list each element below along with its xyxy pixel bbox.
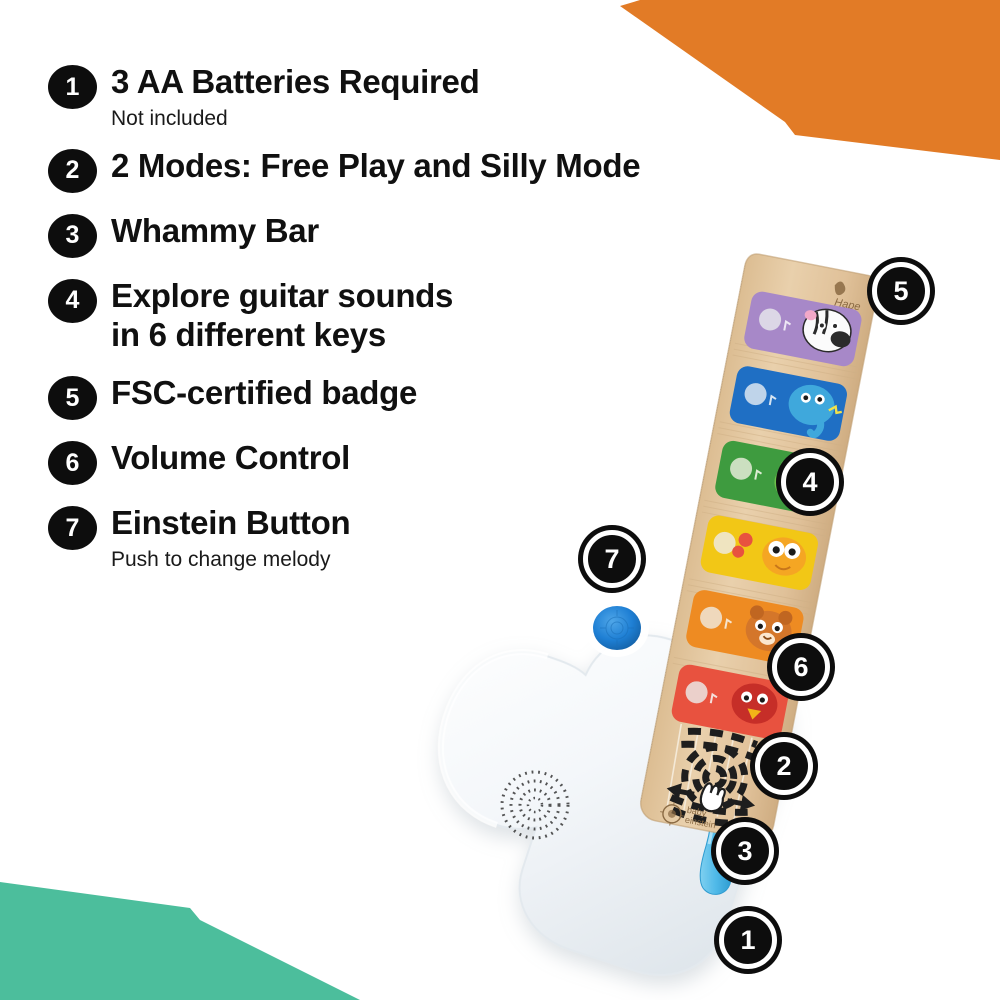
callout-badge-7[interactable]: 7: [583, 530, 641, 588]
zebra-face: [798, 305, 855, 356]
callout-badge-4[interactable]: 4: [781, 453, 839, 511]
hape-logo: Hape: [830, 281, 864, 314]
feature-title-7: Einstein Button: [111, 503, 350, 543]
callout-badge-3[interactable]: 3: [716, 822, 774, 880]
animal-key-zebra[interactable]: [742, 290, 863, 368]
feature-title-6: Volume Control: [111, 438, 350, 478]
feature-number-badge-6: 6: [48, 441, 97, 485]
feature-item-6: 6 Volume Control: [48, 438, 648, 485]
feature-number-badge-7: 7: [48, 506, 97, 550]
feature-subtitle-1: Not included: [111, 106, 479, 132]
infographic-canvas: 1 3 AA Batteries Required Not included 2…: [0, 0, 1000, 1000]
feature-item-3: 3 Whammy Bar: [48, 211, 648, 258]
music-note-icon: [740, 749, 748, 762]
animal-key-lion[interactable]: [699, 514, 820, 592]
feature-title-2: 2 Modes: Free Play and Silly Mode: [111, 146, 640, 186]
animal-key-elephant[interactable]: [728, 364, 849, 442]
feature-number-badge-3: 3: [48, 214, 97, 258]
mode-switch[interactable]: [709, 740, 748, 780]
svg-text:baby: baby: [686, 805, 708, 819]
feature-item-1: 1 3 AA Batteries Required Not included: [48, 62, 648, 132]
elephant-face: [783, 381, 845, 439]
guitar-strings: [665, 724, 752, 820]
feature-number-badge-4: 4: [48, 279, 97, 323]
speaker-grille-icon: [502, 772, 568, 838]
feature-subtitle-7: Push to change melody: [111, 547, 350, 573]
strum-area[interactable]: [662, 726, 767, 830]
baby-einstein-logo: baby einstein: [658, 800, 719, 834]
feature-title-1: 3 AA Batteries Required: [111, 62, 479, 102]
feature-number-badge-1: 1: [48, 65, 97, 109]
feature-number-badge-2: 2: [48, 149, 97, 193]
callout-badge-6[interactable]: 6: [772, 638, 830, 696]
bird-face: [728, 680, 781, 728]
feature-title-5: FSC-certified badge: [111, 373, 417, 413]
callout-badge-5[interactable]: 5: [872, 262, 930, 320]
speaker-icon: [754, 678, 775, 697]
callout-badge-1[interactable]: 1: [719, 911, 777, 969]
callout-badge-2[interactable]: 2: [755, 737, 813, 795]
einstein-button[interactable]: [585, 599, 649, 657]
silly-face-icon: [726, 768, 734, 780]
svg-text:einstein: einstein: [684, 815, 716, 831]
feature-item-5: 5 FSC-certified badge: [48, 373, 648, 420]
feature-title-3: Whammy Bar: [111, 211, 319, 251]
feature-item-2: 2 2 Modes: Free Play and Silly Mode: [48, 146, 648, 193]
volume-control[interactable]: [723, 662, 775, 702]
feature-item-4: 4 Explore guitar sounds in 6 different k…: [48, 276, 648, 355]
feature-title-4: Explore guitar sounds in 6 different key…: [111, 276, 453, 355]
feature-item-7: 7 Einstein Button Push to change melody: [48, 503, 648, 573]
strum-hand-icon: [664, 776, 758, 820]
feature-number-badge-5: 5: [48, 376, 97, 420]
teal-corner-shape: [0, 860, 420, 1000]
feature-list: 1 3 AA Batteries Required Not included 2…: [48, 62, 648, 587]
lion-face: [759, 534, 809, 580]
svg-text:Hape: Hape: [833, 297, 861, 314]
